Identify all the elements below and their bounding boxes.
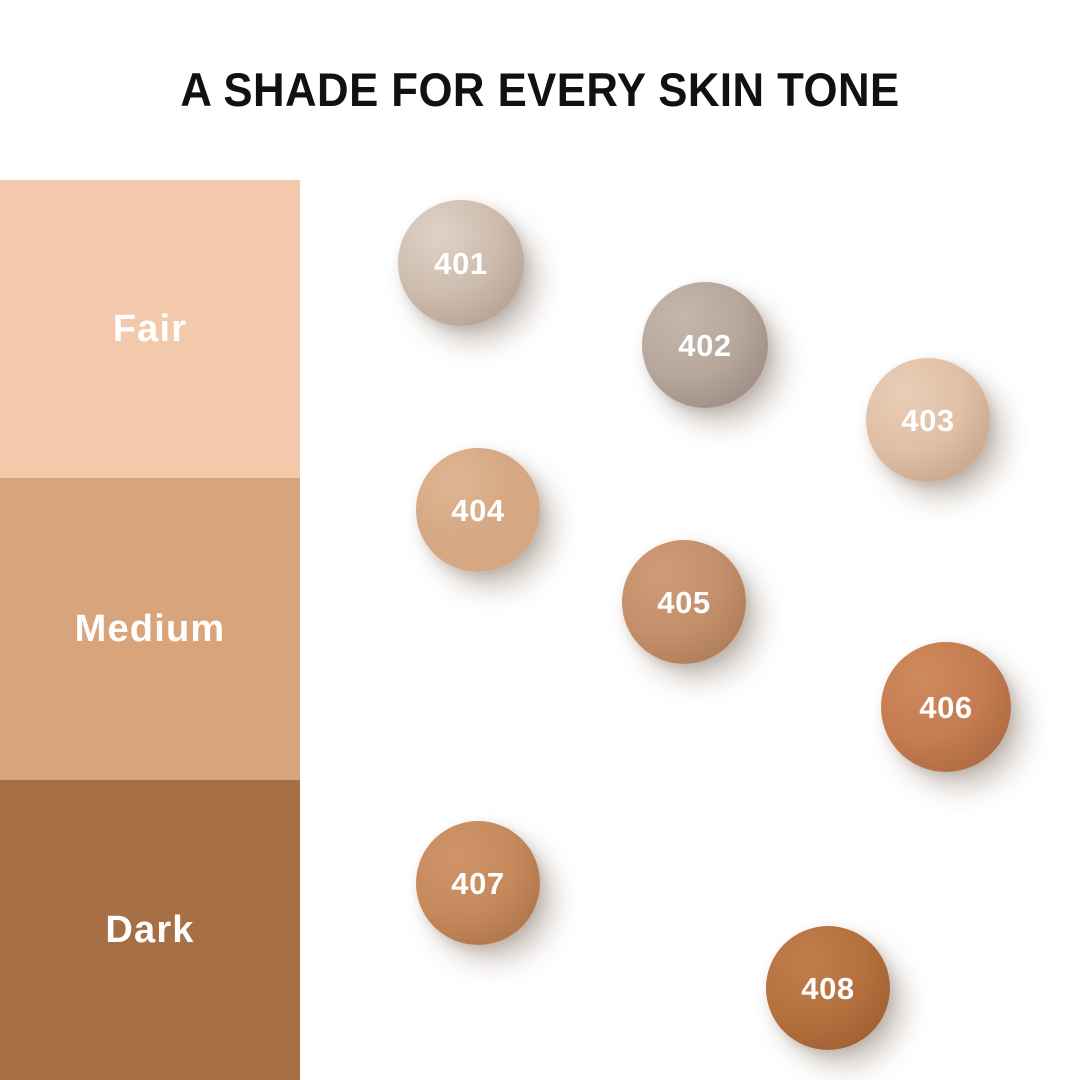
shade-swatch-404[interactable]: 404 <box>416 448 540 572</box>
shade-swatch-label: 406 <box>919 692 973 723</box>
shade-swatch-406[interactable]: 406 <box>881 642 1011 772</box>
shade-swatch-label: 405 <box>657 587 711 618</box>
shade-swatch-group: 401402403404405406407408 <box>0 0 1080 1080</box>
shade-swatch-401[interactable]: 401 <box>398 200 524 326</box>
shade-swatch-label: 407 <box>451 868 505 899</box>
shade-swatch-402[interactable]: 402 <box>642 282 768 408</box>
shade-swatch-label: 402 <box>678 330 732 361</box>
shade-swatch-label: 401 <box>434 248 488 279</box>
shade-swatch-403[interactable]: 403 <box>866 358 990 482</box>
shade-swatch-407[interactable]: 407 <box>416 821 540 945</box>
shade-swatch-label: 403 <box>901 405 955 436</box>
shade-chart-poster: A SHADE FOR EVERY SKIN TONE Fair Medium … <box>0 0 1080 1080</box>
shade-swatch-label: 404 <box>451 495 505 526</box>
shade-swatch-408[interactable]: 408 <box>766 926 890 1050</box>
shade-swatch-label: 408 <box>801 973 855 1004</box>
shade-swatch-405[interactable]: 405 <box>622 540 746 664</box>
